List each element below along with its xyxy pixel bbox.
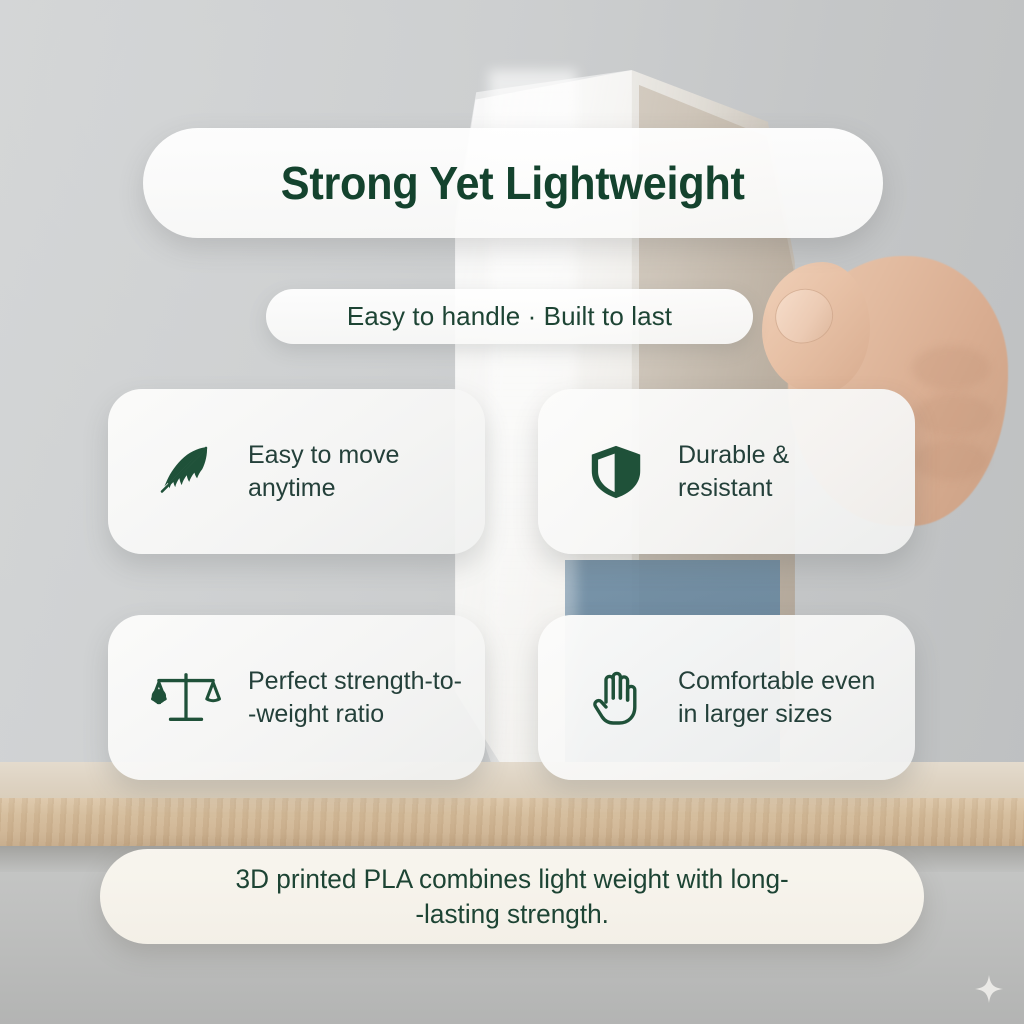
feature-card-label: Perfect strength-to- -weight ratio bbox=[248, 665, 462, 731]
shield-icon bbox=[580, 436, 652, 508]
hand-knuckle bbox=[914, 394, 994, 436]
title-banner: Strong Yet Lightweight bbox=[143, 128, 883, 238]
feature-card-label: Durable & resistant bbox=[678, 439, 789, 505]
product-feature-poster: Strong Yet Lightweight Easy to handle · … bbox=[0, 0, 1024, 1024]
hand-knuckle bbox=[912, 346, 990, 390]
feature-card-label: Easy to move anytime bbox=[248, 439, 399, 505]
feature-card-label: Comfortable even in larger sizes bbox=[678, 665, 875, 731]
sparkle-icon bbox=[975, 975, 1003, 1003]
subtitle-banner: Easy to handle · Built to last bbox=[266, 289, 753, 344]
feature-card-comfortable[interactable]: Comfortable even in larger sizes bbox=[538, 615, 915, 780]
footer-banner: 3D printed PLA combines light weight wit… bbox=[100, 849, 924, 944]
footer-text: 3D printed PLA combines light weight wit… bbox=[235, 862, 788, 931]
page-subtitle: Easy to handle · Built to last bbox=[347, 301, 672, 332]
feature-card-easy-to-move[interactable]: Easy to move anytime bbox=[108, 389, 485, 554]
hand-knuckle bbox=[912, 440, 988, 480]
balance-scale-icon bbox=[150, 662, 222, 734]
feature-card-strength-to-weight[interactable]: Perfect strength-to- -weight ratio bbox=[108, 615, 485, 780]
feature-card-durable[interactable]: Durable & resistant bbox=[538, 389, 915, 554]
feather-icon bbox=[150, 436, 222, 508]
wooden-shelf-grain bbox=[0, 798, 1024, 846]
open-hand-icon bbox=[580, 662, 652, 734]
page-title: Strong Yet Lightweight bbox=[281, 156, 745, 210]
